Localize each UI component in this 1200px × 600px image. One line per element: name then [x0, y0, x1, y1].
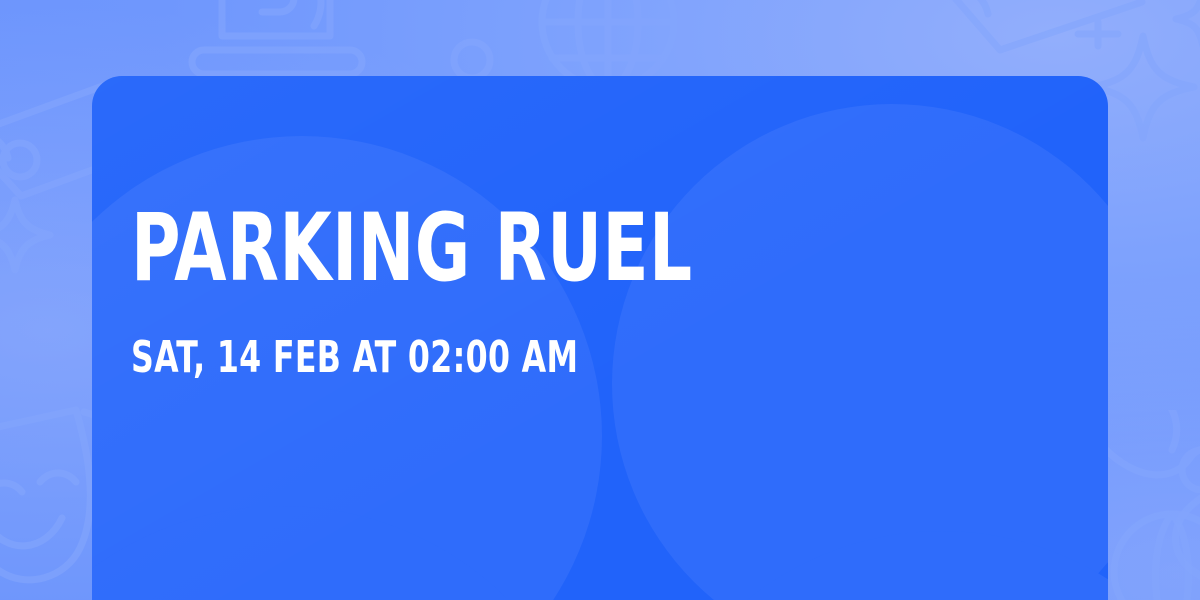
event-datetime: SAT, 14 FEB AT 02:00 AM: [131, 336, 755, 380]
event-banner: PARKING RUEL SAT, 14 FEB AT 02:00 AM: [0, 0, 1200, 600]
event-card: PARKING RUEL SAT, 14 FEB AT 02:00 AM: [92, 76, 1108, 600]
sparkle-icon: [0, 190, 60, 280]
confetti-streamer-icon: [1098, 410, 1200, 600]
star-burst-icon: [1168, 0, 1200, 54]
event-text-block: PARKING RUEL SAT, 14 FEB AT 02:00 AM: [131, 206, 911, 380]
event-title: PARKING RUEL: [131, 206, 755, 292]
